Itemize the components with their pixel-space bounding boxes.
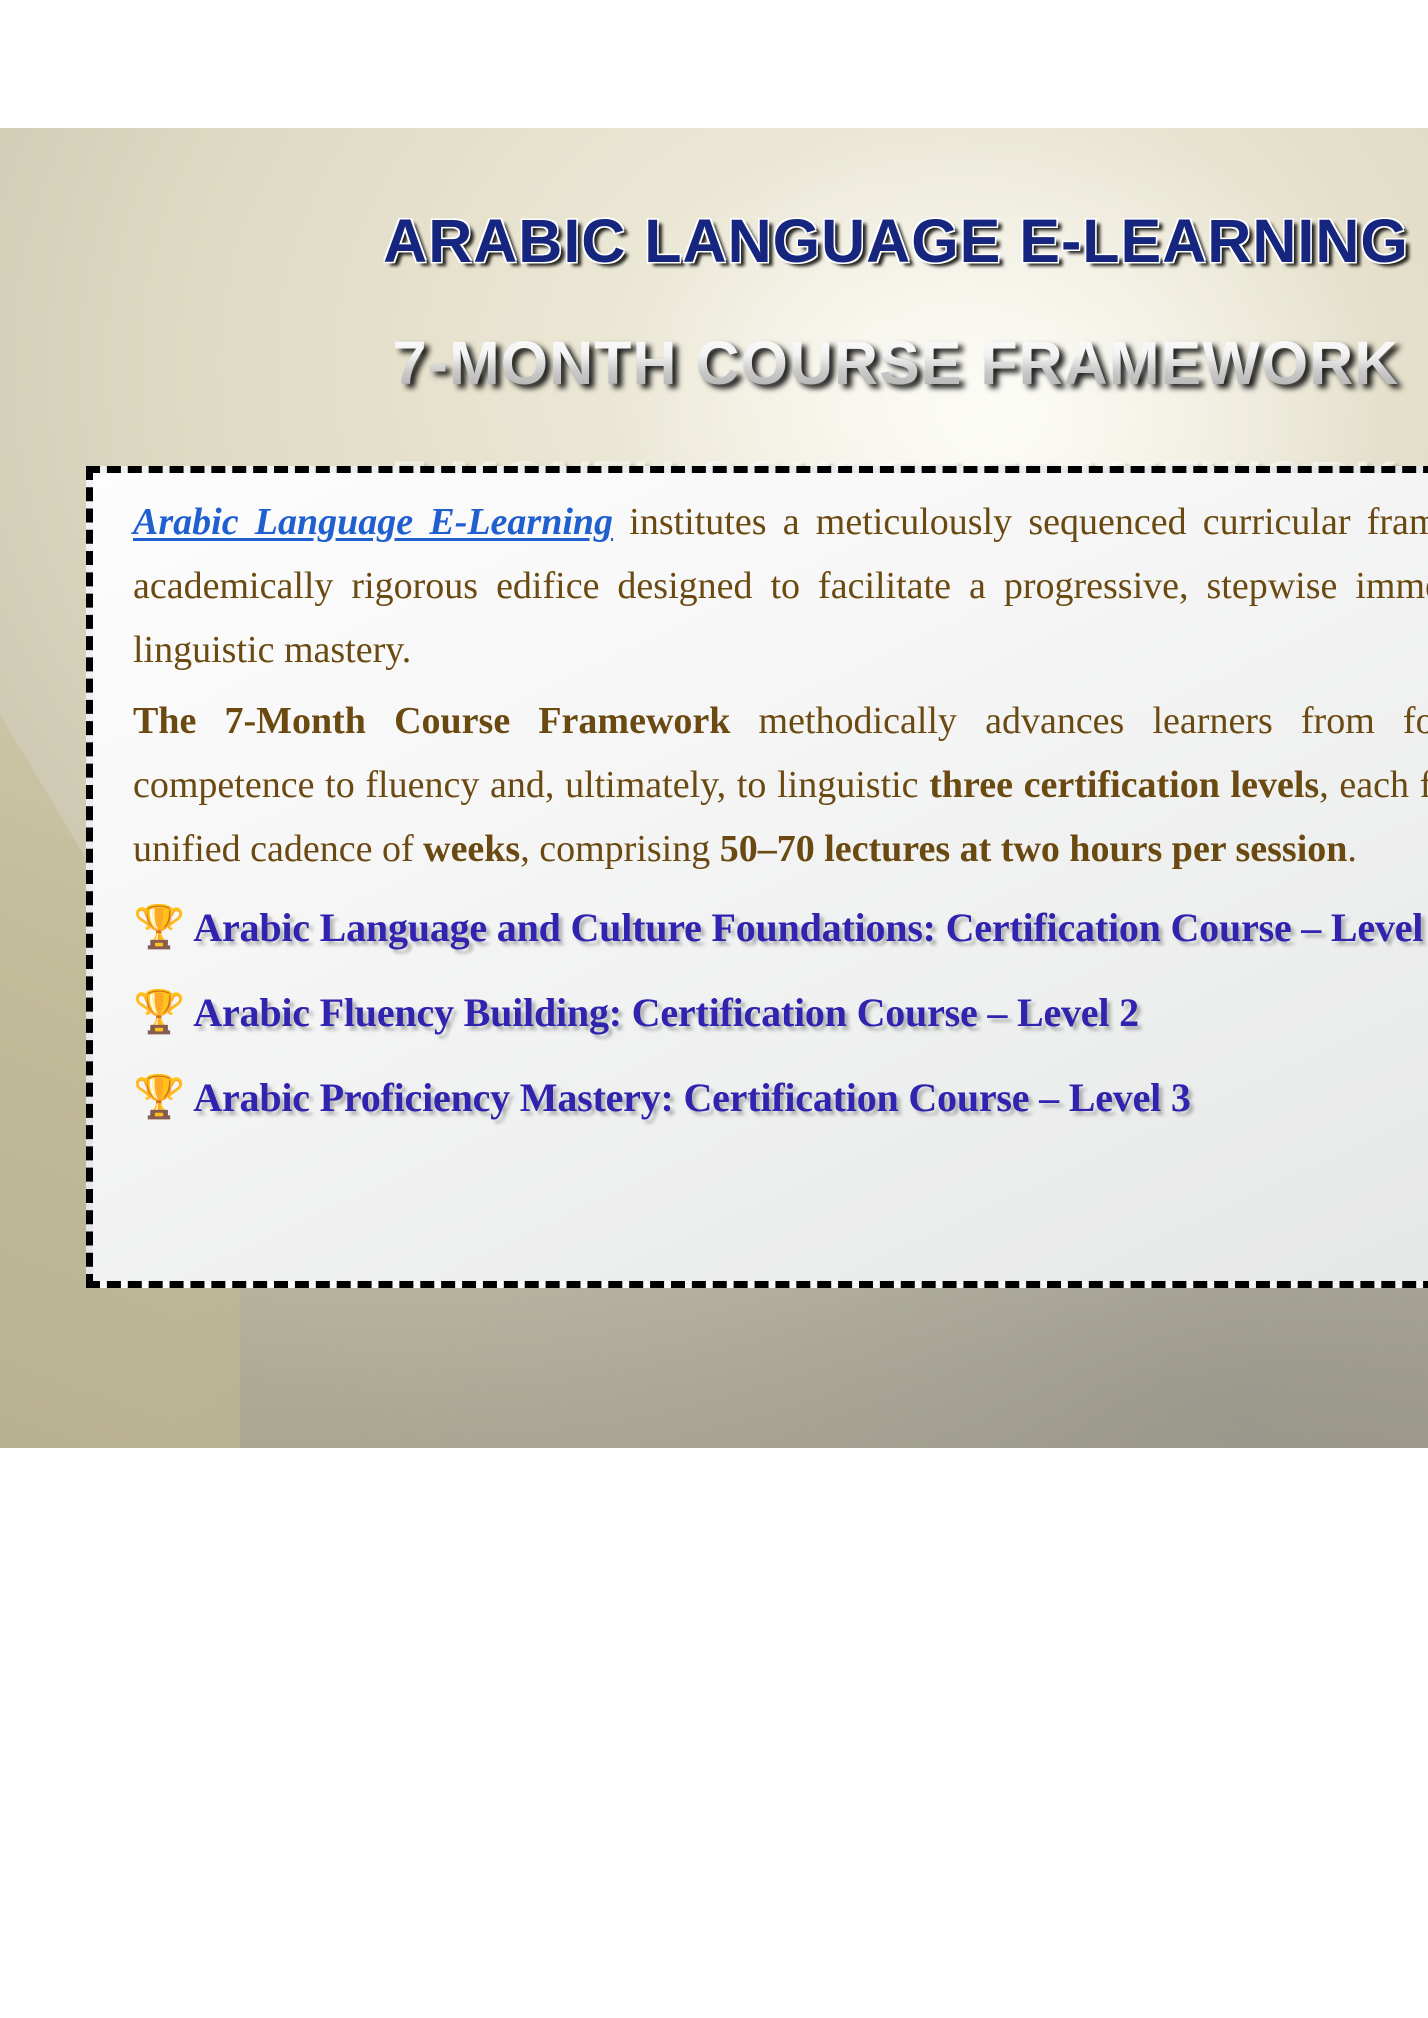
certification-list: 🏆 Arabic Language and Culture Foundation… (133, 904, 1428, 1121)
list-item[interactable]: 🏆 Arabic Language and Culture Foundation… (133, 904, 1428, 951)
arabic-language-elearning-link[interactable]: Arabic Language E-Learning (133, 501, 613, 543)
trophy-icon: 🏆 (133, 991, 185, 1033)
list-item[interactable]: 🏆 Arabic Fluency Building: Certification… (133, 989, 1428, 1036)
slide-subtitle: 7-MONTH COURSE FRAMEWORK (182, 328, 1428, 398)
framework-bold-lead: The 7-Month Course Framework (133, 700, 730, 742)
presentation-slide: 7-MONTH COURSE FRAMEWORK ARABIC LANGUAGE… (0, 128, 1428, 1448)
framework-bold-levels: three certification levels (929, 764, 1319, 806)
framework-paragraph: The 7-Month Course Framework methodicall… (133, 690, 1428, 881)
content-panel: Arabic Language E-Learning institutes a … (86, 466, 1428, 1288)
framework-text-c: , comprising (520, 828, 719, 870)
list-item[interactable]: 🏆 Arabic Proficiency Mastery: Certificat… (133, 1074, 1428, 1121)
intro-paragraph: Arabic Language E-Learning institutes a … (133, 491, 1428, 682)
framework-text-d: . (1347, 828, 1357, 870)
trophy-icon: 🏆 (133, 906, 185, 948)
slide-title-primary: ARABIC LANGUAGE E-LEARNING (182, 206, 1428, 276)
certification-level-3-label: Arabic Proficiency Mastery: Certificatio… (193, 1074, 1190, 1121)
framework-bold-lectures: 50–70 lectures at two hours per session (720, 828, 1348, 870)
trophy-icon: 🏆 (133, 1076, 185, 1118)
framework-bold-weeks: weeks (423, 828, 520, 870)
certification-level-2-label: Arabic Fluency Building: Certification C… (193, 989, 1139, 1036)
certification-level-1-label: Arabic Language and Culture Foundations:… (193, 904, 1428, 951)
